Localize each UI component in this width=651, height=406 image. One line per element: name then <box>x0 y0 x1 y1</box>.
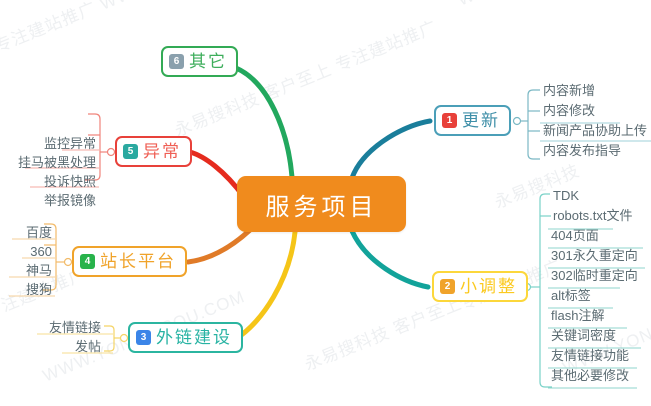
link-root-outlinks <box>237 232 295 338</box>
subtree-update <box>514 90 541 159</box>
branch-label-outlinks: 外链建设 <box>156 329 232 346</box>
branch-badge-3: 3 <box>136 330 151 345</box>
branch-node-other[interactable]: 6 其它 <box>161 46 238 77</box>
leaf-item[interactable]: 内容修改 <box>543 103 595 118</box>
leaf-item[interactable]: 关键词密度 <box>551 328 616 343</box>
leaf-item[interactable]: 神马 <box>26 263 52 278</box>
link-root-webmaster <box>188 230 250 262</box>
branch-badge-5: 5 <box>123 144 138 159</box>
link-root-other <box>236 68 292 177</box>
leaf-item[interactable]: 发帖 <box>75 339 101 354</box>
link-root-abnormal <box>190 152 244 197</box>
leaf-item[interactable]: 友情链接功能 <box>551 348 629 363</box>
branch-node-tweaks[interactable]: 2 小调整 <box>432 271 528 302</box>
leaf-item[interactable]: 301永久重定向 <box>551 248 638 263</box>
leaf-item[interactable]: 新闻产品协助上传 <box>543 123 647 138</box>
leaf-item[interactable]: TDK <box>553 188 579 203</box>
branch-badge-4: 4 <box>80 254 95 269</box>
branch-node-outlinks[interactable]: 3 外链建设 <box>128 322 243 353</box>
leaf-item[interactable]: 挂马被黑处理 <box>18 155 96 170</box>
branch-badge-6: 6 <box>169 54 184 69</box>
branch-badge-2: 2 <box>440 279 455 294</box>
leaf-item[interactable]: 投诉快照 <box>44 174 96 189</box>
leaf-item[interactable]: 内容发布指导 <box>543 143 621 158</box>
leaf-item[interactable]: 360 <box>30 244 52 259</box>
leaf-item[interactable]: 内容新增 <box>543 83 595 98</box>
branch-node-webmaster[interactable]: 4 站长平台 <box>72 246 187 277</box>
link-root-update <box>352 121 430 178</box>
branch-badge-1: 1 <box>442 113 457 128</box>
branch-label-tweaks: 小调整 <box>460 278 517 295</box>
root-node[interactable]: 服务项目 <box>237 176 406 232</box>
branch-label-other: 其它 <box>189 53 227 70</box>
branch-node-abnormal[interactable]: 5 异常 <box>115 136 192 167</box>
branch-label-update: 更新 <box>462 112 500 129</box>
leaf-item[interactable]: 其他必要修改 <box>551 368 629 383</box>
leaf-item[interactable]: 404页面 <box>551 228 599 243</box>
leaf-item[interactable]: 302临时重定向 <box>551 268 638 283</box>
leaf-item[interactable]: alt标签 <box>551 288 591 303</box>
leaf-item[interactable]: flash注解 <box>551 308 604 323</box>
mindmap-canvas: 专注建站推广 WWW.YONGYISOU.COM 永易搜科技 客户至上 专注建站… <box>0 0 651 406</box>
leaf-item[interactable]: 搜狗 <box>26 282 52 297</box>
leaf-item[interactable]: 友情链接 <box>49 320 101 335</box>
branch-label-abnormal: 异常 <box>143 143 181 160</box>
branch-label-webmaster: 站长平台 <box>100 253 176 270</box>
leaf-item[interactable]: 百度 <box>26 225 52 240</box>
root-label: 服务项目 <box>266 187 378 222</box>
branch-node-update[interactable]: 1 更新 <box>434 105 511 136</box>
leaf-item[interactable]: 监控异常 <box>44 136 96 151</box>
leaf-item[interactable]: robots.txt文件 <box>553 208 632 223</box>
leaf-item[interactable]: 举报镜像 <box>44 193 96 208</box>
subtree-outlinks <box>104 326 128 351</box>
link-root-tweaks <box>352 231 428 287</box>
